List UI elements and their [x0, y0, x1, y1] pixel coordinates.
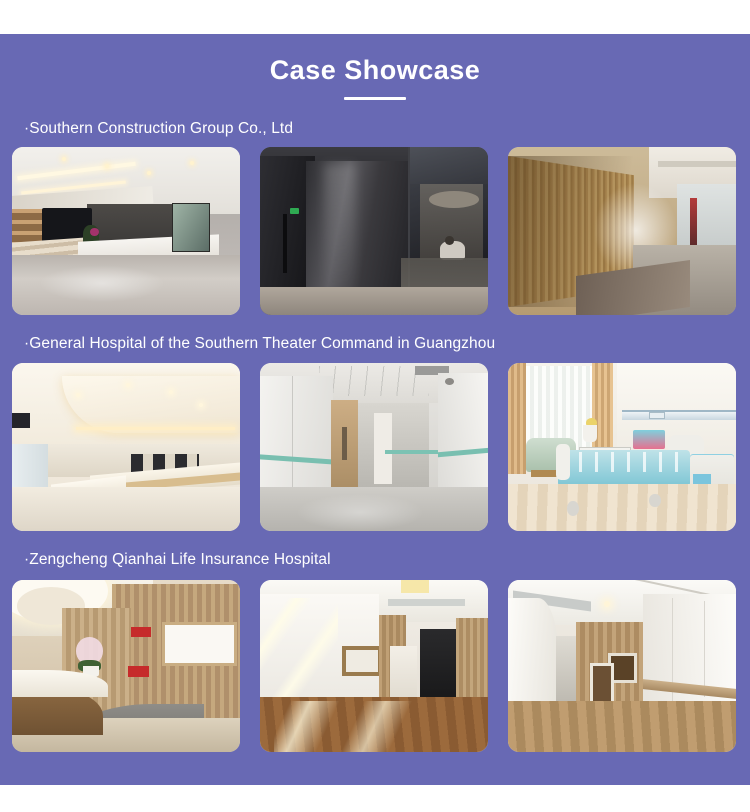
downlight-icon: [604, 601, 610, 607]
ceiling-camera-icon: [445, 378, 454, 385]
corridor-opening: [556, 636, 579, 705]
gift-box: [633, 430, 665, 448]
green-handrail-stripe: [385, 450, 444, 454]
case-image-elevator-lobby[interactable]: [260, 147, 488, 315]
scene-hospital-ward: [508, 363, 736, 531]
skylight: [401, 580, 428, 592]
wall-outlet-panel: [649, 412, 665, 419]
door-handle: [342, 427, 347, 461]
case-image-ward-room[interactable]: [508, 363, 736, 531]
image-row: [0, 363, 750, 531]
ceiling-slot: [388, 599, 466, 606]
section-caption: ·General Hospital of the Southern Theate…: [0, 335, 750, 354]
panel-reflection: [324, 164, 356, 295]
sunlight-pattern: [260, 598, 338, 708]
header: Case Showcase: [0, 34, 750, 100]
bed-wheel: [567, 501, 578, 516]
downlight-icon: [147, 171, 151, 175]
scene-sunlit-room: [260, 580, 488, 752]
bed-side-rail: [563, 452, 686, 472]
case-image-sunlit-room[interactable]: [260, 580, 488, 752]
scene-wood-panel-room: [508, 580, 736, 752]
vase: [583, 425, 597, 442]
bed-footboard: [556, 444, 570, 481]
far-glazing: [677, 184, 736, 251]
image-row: [0, 580, 750, 752]
stone-floor: [260, 287, 488, 316]
section-caption: ·Zengcheng Qianhai Life Insurance Hospit…: [0, 551, 750, 570]
ceiling-strip: [658, 161, 736, 168]
case-showcase-page: Case Showcase ·Southern Construction Gro…: [0, 0, 750, 812]
wood-floor: [508, 701, 736, 753]
scene-wood-corridor: [508, 147, 736, 315]
flower-arrangement: [90, 228, 99, 236]
framed-picture: [342, 646, 382, 676]
downlight-icon: [76, 393, 80, 397]
case-image-wood-wall-corridor[interactable]: [508, 147, 736, 315]
purple-panel: Case Showcase ·Southern Construction Gro…: [0, 34, 750, 785]
ceiling-grid: [319, 366, 428, 396]
exit-sign-icon: [290, 208, 299, 215]
medical-rail-track: [622, 410, 736, 420]
seated-person: [445, 236, 454, 244]
floor: [12, 487, 240, 531]
glass-entry-door: [172, 203, 210, 252]
sunlight-on-floor: [274, 701, 415, 753]
title-underline-rule: [344, 97, 406, 100]
oval-ceiling-feature: [429, 191, 479, 208]
scene-hospital-nurse-station: [12, 363, 240, 531]
scene-dark-elevator-lobby: [260, 147, 488, 315]
case-image-nurse-station[interactable]: [12, 363, 240, 531]
elevator-door-panel: [306, 161, 409, 295]
downlight-icon: [190, 161, 194, 165]
cove-light-strip: [76, 427, 236, 430]
red-wall-sign: [128, 666, 149, 676]
section-southern-construction: ·Southern Construction Group Co., Ltd: [0, 120, 750, 316]
section-general-hospital: ·General Hospital of the Southern Theate…: [0, 335, 750, 531]
floor-light-pool: [296, 494, 424, 531]
scene-curved-reception: [12, 580, 240, 752]
section-zengcheng-qianhai: ·Zengcheng Qianhai Life Insurance Hospit…: [0, 551, 750, 753]
bed-wheel: [649, 494, 660, 507]
wood-floor: [508, 484, 736, 531]
page-title: Case Showcase: [0, 56, 750, 86]
lounge-chair: [440, 241, 465, 259]
panel-joint: [292, 376, 293, 490]
case-image-curved-reception[interactable]: [12, 580, 240, 752]
downlight-icon: [126, 383, 130, 387]
red-wall-sign: [131, 627, 152, 637]
case-image-wood-panel-room[interactable]: [508, 580, 736, 752]
image-row: [0, 147, 750, 315]
wall-tv-screen: [12, 413, 30, 428]
floor-reflection: [39, 265, 164, 302]
section-caption: ·Southern Construction Group Co., Ltd: [0, 120, 750, 139]
case-image-lobby-reception[interactable]: [12, 147, 240, 315]
door-gap: [283, 214, 288, 273]
curtain-left: [508, 363, 526, 474]
scene-office-lobby: [12, 147, 240, 315]
panel-seam: [704, 601, 705, 697]
scene-hospital-corridor: [260, 363, 488, 531]
curved-ceiling-cove: [62, 376, 240, 433]
mid-wall: [358, 403, 429, 487]
case-image-hospital-corridor[interactable]: [260, 363, 488, 531]
far-door: [374, 413, 392, 484]
red-column: [690, 198, 697, 248]
wall-display-frame: [162, 622, 236, 666]
